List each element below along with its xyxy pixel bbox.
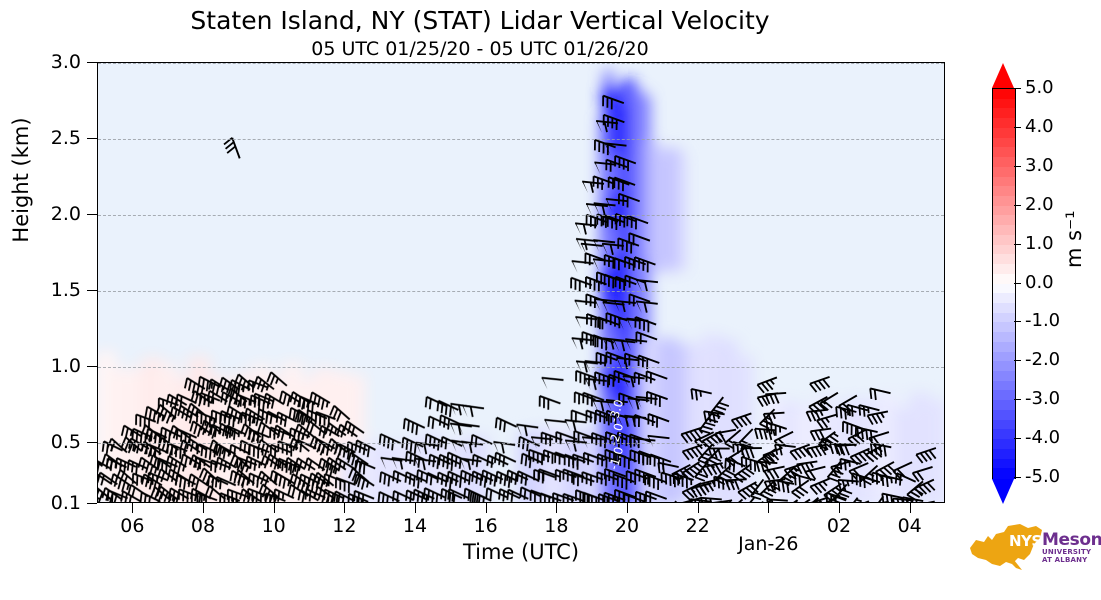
wind-barb — [536, 396, 560, 413]
colorbar-tick — [1014, 88, 1021, 89]
colorbar-unit-label: m s⁻¹ — [1062, 210, 1086, 268]
y-tick — [87, 442, 97, 443]
logo-mesonet-text: Mesonet — [1042, 530, 1101, 550]
plot-area: -3.0-2.0-1.0 — [97, 62, 945, 503]
y-tick-label: 0.1 — [11, 494, 81, 513]
wind-barb — [757, 377, 780, 394]
wind-barb — [492, 453, 516, 471]
x-tick — [486, 503, 487, 513]
wind-barb — [223, 138, 240, 162]
colorbar-tick-label: 1.0 — [1025, 235, 1054, 253]
y-tick — [87, 62, 97, 63]
nys-mesonet-logo: NYS Mesonet UNIVERSITY AT ALBANY — [962, 520, 1098, 576]
y-axis-label: Height (km) — [9, 65, 33, 295]
y-tick — [87, 214, 97, 215]
colorbar-tick — [1014, 127, 1021, 128]
colorbar-extend-min — [992, 479, 1014, 504]
logo-university-text: UNIVERSITY AT ALBANY — [1042, 548, 1098, 564]
y-tick — [87, 290, 97, 291]
colorbar-tick-label: -1.0 — [1025, 312, 1060, 330]
colorbar-tick-label: 3.0 — [1025, 157, 1054, 175]
colorbar-tick-label: 0.0 — [1025, 274, 1054, 292]
x-tick — [839, 503, 840, 513]
x-tick — [132, 503, 133, 513]
y-tick-label: 0.5 — [11, 433, 81, 452]
wind-barb — [574, 223, 597, 236]
colorbar-tick-label: 4.0 — [1025, 118, 1054, 136]
wind-barb — [574, 317, 597, 330]
colorbar-tick-label: -5.0 — [1025, 468, 1060, 486]
gridline-y — [98, 139, 944, 140]
x-axis-label: Time (UTC) — [97, 540, 945, 564]
y-tick — [87, 503, 97, 504]
wind-barb — [574, 301, 597, 314]
colorbar-tick — [1014, 321, 1021, 322]
y-axis: 0.10.51.01.52.02.53.0 — [87, 62, 97, 503]
gridline-y — [98, 443, 944, 444]
x-tick — [627, 503, 628, 513]
vertical-velocity-field: -3.0-2.0-1.0 — [98, 63, 944, 502]
gridline-y — [98, 367, 944, 368]
colorbar-tick — [1014, 283, 1021, 284]
logo-nys-text: NYS — [1009, 532, 1042, 550]
x-tick — [415, 503, 416, 513]
y-tick — [87, 366, 97, 367]
wind-barb — [461, 405, 484, 419]
x-tick — [910, 503, 911, 513]
y-tick — [87, 138, 97, 139]
gridline-y — [98, 291, 944, 292]
colorbar-extend-max — [992, 63, 1014, 88]
chart-subtitle: 05 UTC 01/25/20 - 05 UTC 01/26/20 — [0, 38, 960, 60]
chart-title: Staten Island, NY (STAT) Lidar Vertical … — [0, 6, 960, 35]
wind-barb — [540, 378, 563, 391]
colorbar-gradient — [992, 88, 1016, 479]
colorbar-tick-label: -4.0 — [1025, 429, 1060, 447]
colorbar-tick — [1014, 477, 1021, 478]
colorbar-tick — [1014, 399, 1021, 400]
y-tick-label: 1.0 — [11, 357, 81, 376]
wind-barb — [493, 472, 517, 490]
colorbar-tick — [1014, 244, 1021, 245]
colorbar-tick — [1014, 166, 1021, 167]
x-tick — [274, 503, 275, 513]
x-tick — [698, 503, 699, 513]
colorbar-tick — [1014, 360, 1021, 361]
colorbar-tick-label: -2.0 — [1025, 351, 1060, 369]
chart-figure: Staten Island, NY (STAT) Lidar Vertical … — [0, 0, 1101, 600]
x-tick — [344, 503, 345, 513]
x-tick — [203, 503, 204, 513]
colorbar-segment — [993, 468, 1015, 478]
gridline-y — [98, 215, 944, 216]
colorbar-tick-label: -3.0 — [1025, 390, 1060, 408]
colorbar-tick — [1014, 438, 1021, 439]
colorbar: 5.04.03.02.01.00.0-1.0-2.0-3.0-4.0-5.0 — [988, 62, 1018, 503]
colorbar-tick — [1014, 205, 1021, 206]
x-tick-label: 04 — [850, 517, 970, 536]
colorbar-tick-label: 2.0 — [1025, 196, 1054, 214]
colorbar-tick-label: 5.0 — [1025, 79, 1054, 97]
wind-barb — [568, 410, 592, 427]
x-tick — [768, 503, 769, 513]
x-tick — [556, 503, 557, 513]
gridline-y — [98, 63, 944, 64]
wind-barb — [810, 377, 833, 393]
wind-barb — [493, 418, 517, 436]
